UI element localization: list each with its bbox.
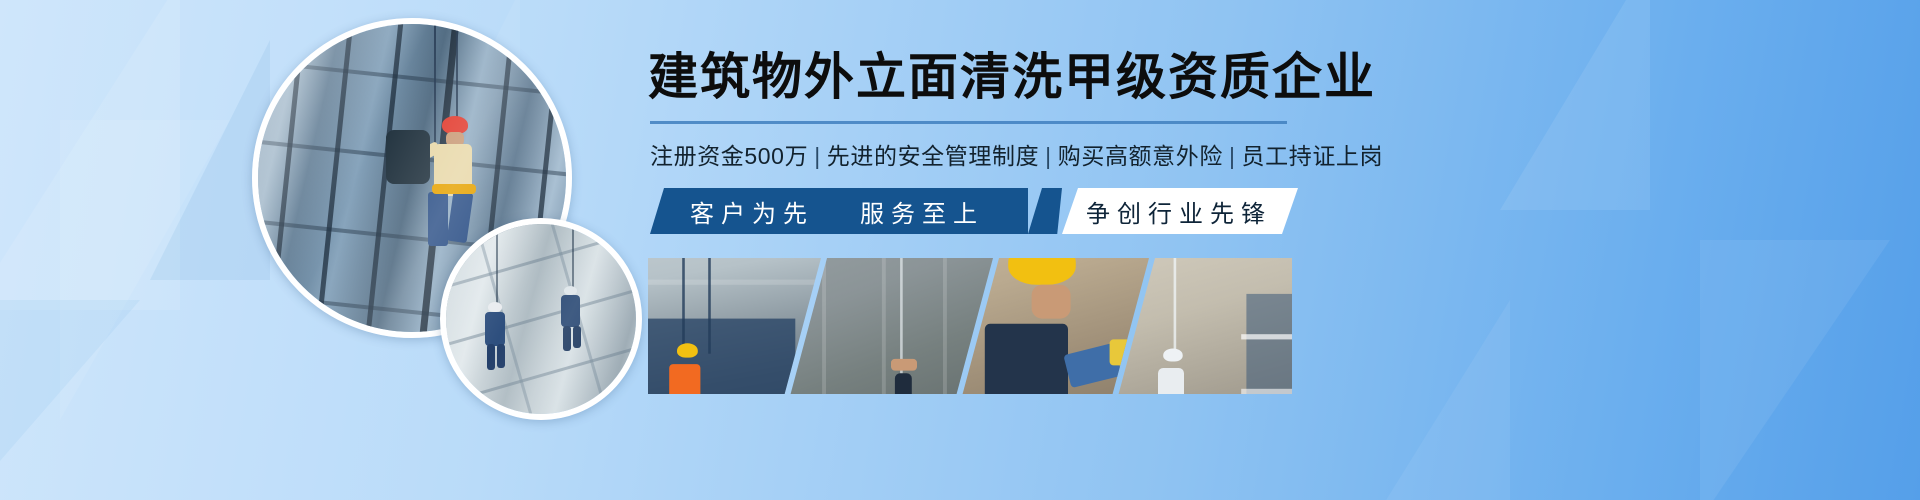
- feature-item-1: 注册资金500万: [650, 143, 808, 169]
- facade-line: [822, 258, 826, 394]
- feature-separator: |: [808, 143, 827, 169]
- feature-item-3: 购买高额意外险: [1058, 143, 1223, 169]
- worker-face: [1032, 285, 1071, 319]
- worker-torso: [1158, 369, 1184, 394]
- slogan-divider: [1028, 188, 1062, 234]
- feature-item-4: 员工持证上岗: [1242, 143, 1384, 169]
- facade-line: [648, 280, 827, 285]
- facade-line: [882, 258, 886, 394]
- orange-safety-vest: [670, 364, 701, 394]
- safety-rope: [1174, 258, 1177, 359]
- banner-content: 建筑物外立面清洗甲级资质企业 注册资金500万|先进的安全管理制度|购买高额意外…: [648, 0, 1878, 500]
- slogan-primary-text: 客户为先: [690, 194, 814, 229]
- slogan-secondary-text: 服务至上: [860, 194, 984, 229]
- balcony-opening: [1246, 294, 1292, 394]
- feature-separator: |: [1223, 143, 1242, 169]
- slogan-bar: 客户为先 服务至上 争创行业先锋: [650, 188, 1298, 234]
- worker-torso: [895, 373, 912, 394]
- feature-list: 注册资金500万|先进的安全管理制度|购买高额意外险|员工持证上岗: [650, 140, 1383, 172]
- yellow-hardhat-icon: [677, 344, 698, 358]
- worker-torso: [985, 324, 1068, 394]
- slogan-highlight-segment: 争创行业先锋: [1062, 188, 1298, 234]
- safety-rope: [682, 258, 685, 349]
- title-divider: [650, 121, 1287, 124]
- slogan-highlight-text: 争创行业先锋: [1086, 194, 1272, 229]
- white-hardhat-icon: [1163, 349, 1183, 362]
- feature-separator: |: [1039, 143, 1058, 169]
- circle-photo-concrete-facade: [440, 218, 642, 420]
- promotional-banner: 建筑物外立面清洗甲级资质企业 注册资金500万|先进的安全管理制度|购买高额意外…: [0, 0, 1920, 500]
- worker-arm: [891, 359, 917, 371]
- page-title: 建筑物外立面清洗甲级资质企业: [648, 48, 1376, 106]
- concrete-facade-image: [446, 224, 636, 414]
- photo-highlight: [446, 224, 636, 414]
- photo-strip: [648, 258, 1292, 394]
- safety-rope: [708, 258, 711, 354]
- facade-line: [943, 258, 947, 394]
- balcony-rail: [1241, 334, 1292, 339]
- feature-item-2: 先进的安全管理制度: [827, 143, 1039, 169]
- balcony-rail: [1241, 388, 1292, 393]
- slogan-primary-segment: 客户为先 服务至上: [650, 188, 1028, 234]
- decorative-triangle: [0, 300, 140, 500]
- yellow-hardhat-icon: [1008, 258, 1076, 284]
